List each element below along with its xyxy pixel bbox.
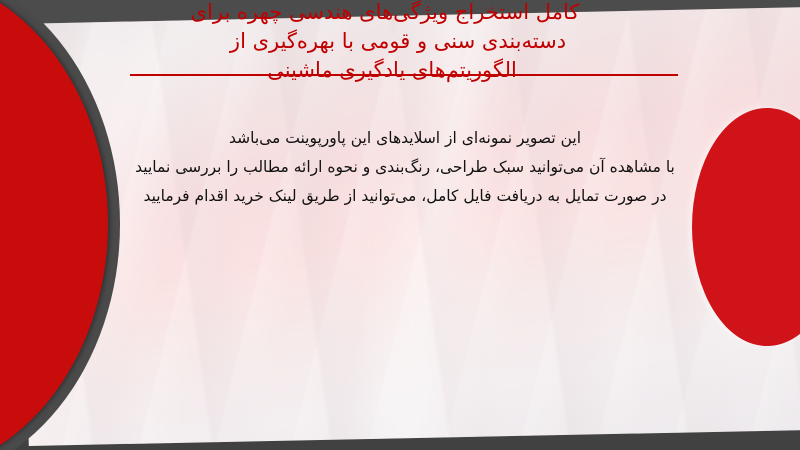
presentation-slide: کامل استخراج ویژگی‌های هندسی چهره برای د… bbox=[0, 0, 800, 450]
body-line-1: این تصویر نمونه‌ای از اسلایدهای این پاور… bbox=[120, 124, 690, 153]
slide-content: کامل استخراج ویژگی‌های هندسی چهره برای د… bbox=[0, 0, 800, 450]
title-divider-rule bbox=[130, 74, 678, 76]
slide-body-text: این تصویر نمونه‌ای از اسلایدهای این پاور… bbox=[120, 124, 690, 211]
title-line-3: الگوریتم‌های یادگیری ماشینی bbox=[120, 56, 690, 85]
body-line-3: در صورت تمایل به دریافت فایل کامل، می‌تو… bbox=[120, 182, 690, 211]
title-line-2: دسته‌بندی سنی و قومی با بهره‌گیری از bbox=[120, 27, 690, 56]
title-line-1: کامل استخراج ویژگی‌های هندسی چهره برای bbox=[120, 0, 690, 27]
body-line-2: با مشاهده آن می‌توانید سبک طراحی، رنگ‌بن… bbox=[120, 153, 690, 182]
slide-title: کامل استخراج ویژگی‌های هندسی چهره برای د… bbox=[120, 0, 690, 85]
